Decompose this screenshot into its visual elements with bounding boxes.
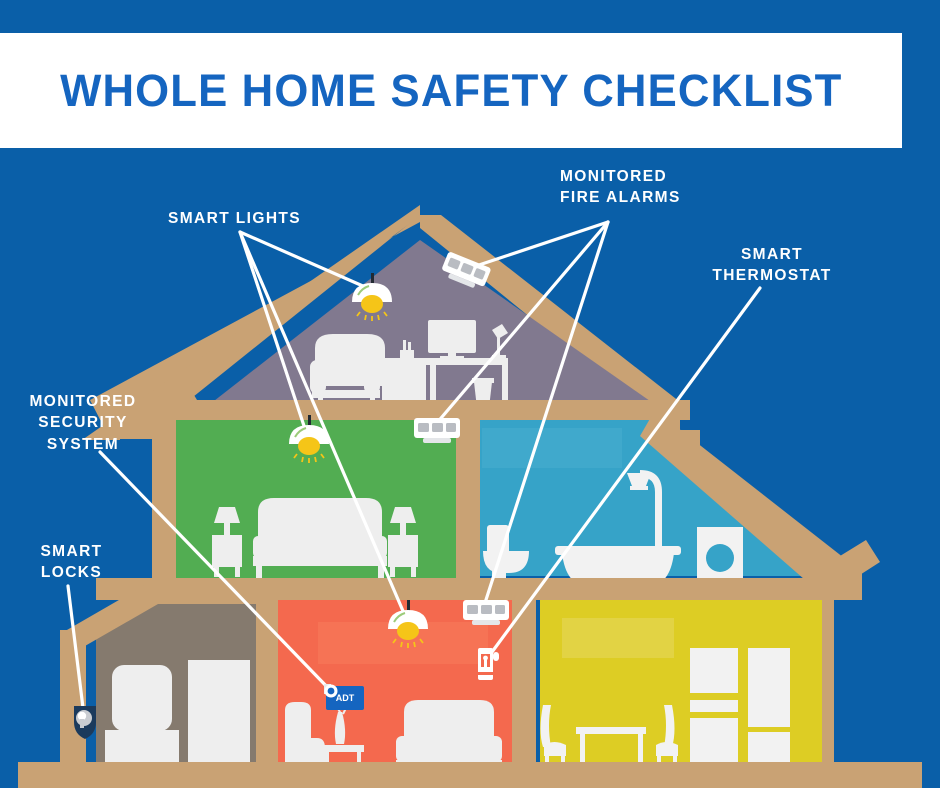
bathroom-wall-accent: [482, 428, 622, 468]
interior-wall-garage-living: [256, 582, 278, 788]
floor-divider-attic: [150, 400, 690, 420]
interior-wall-upper: [456, 412, 480, 582]
callout-label-monitored-fire-alarms: MONITORED FIRE ALARMS: [560, 166, 681, 209]
callout-label-smart-lights: SMART LIGHTS: [168, 208, 301, 229]
callout-label-monitored-security-system: MONITORED SECURITY SYSTEM: [18, 391, 148, 455]
security-panel-brand: ADT: [336, 693, 355, 703]
page-title: WHOLE HOME SAFETY CHECKLIST: [60, 65, 842, 117]
callout-label-smart-thermostat: SMART THERMOSTAT: [712, 244, 832, 287]
title-bar: WHOLE HOME SAFETY CHECKLIST: [0, 33, 902, 148]
interior-wall-living-kitchen: [512, 582, 536, 788]
left-exterior-wall-upper: [152, 405, 176, 585]
callout-label-smart-locks: SMART LOCKS: [24, 541, 119, 584]
infographic-canvas: ADT WHOLE HOME SAFETY CHECKLIST SMART LI…: [0, 0, 940, 788]
kitchen-wall-accent: [562, 618, 674, 658]
foundation: [18, 762, 922, 788]
security-panel-icon[interactable]: ADT: [324, 684, 364, 710]
